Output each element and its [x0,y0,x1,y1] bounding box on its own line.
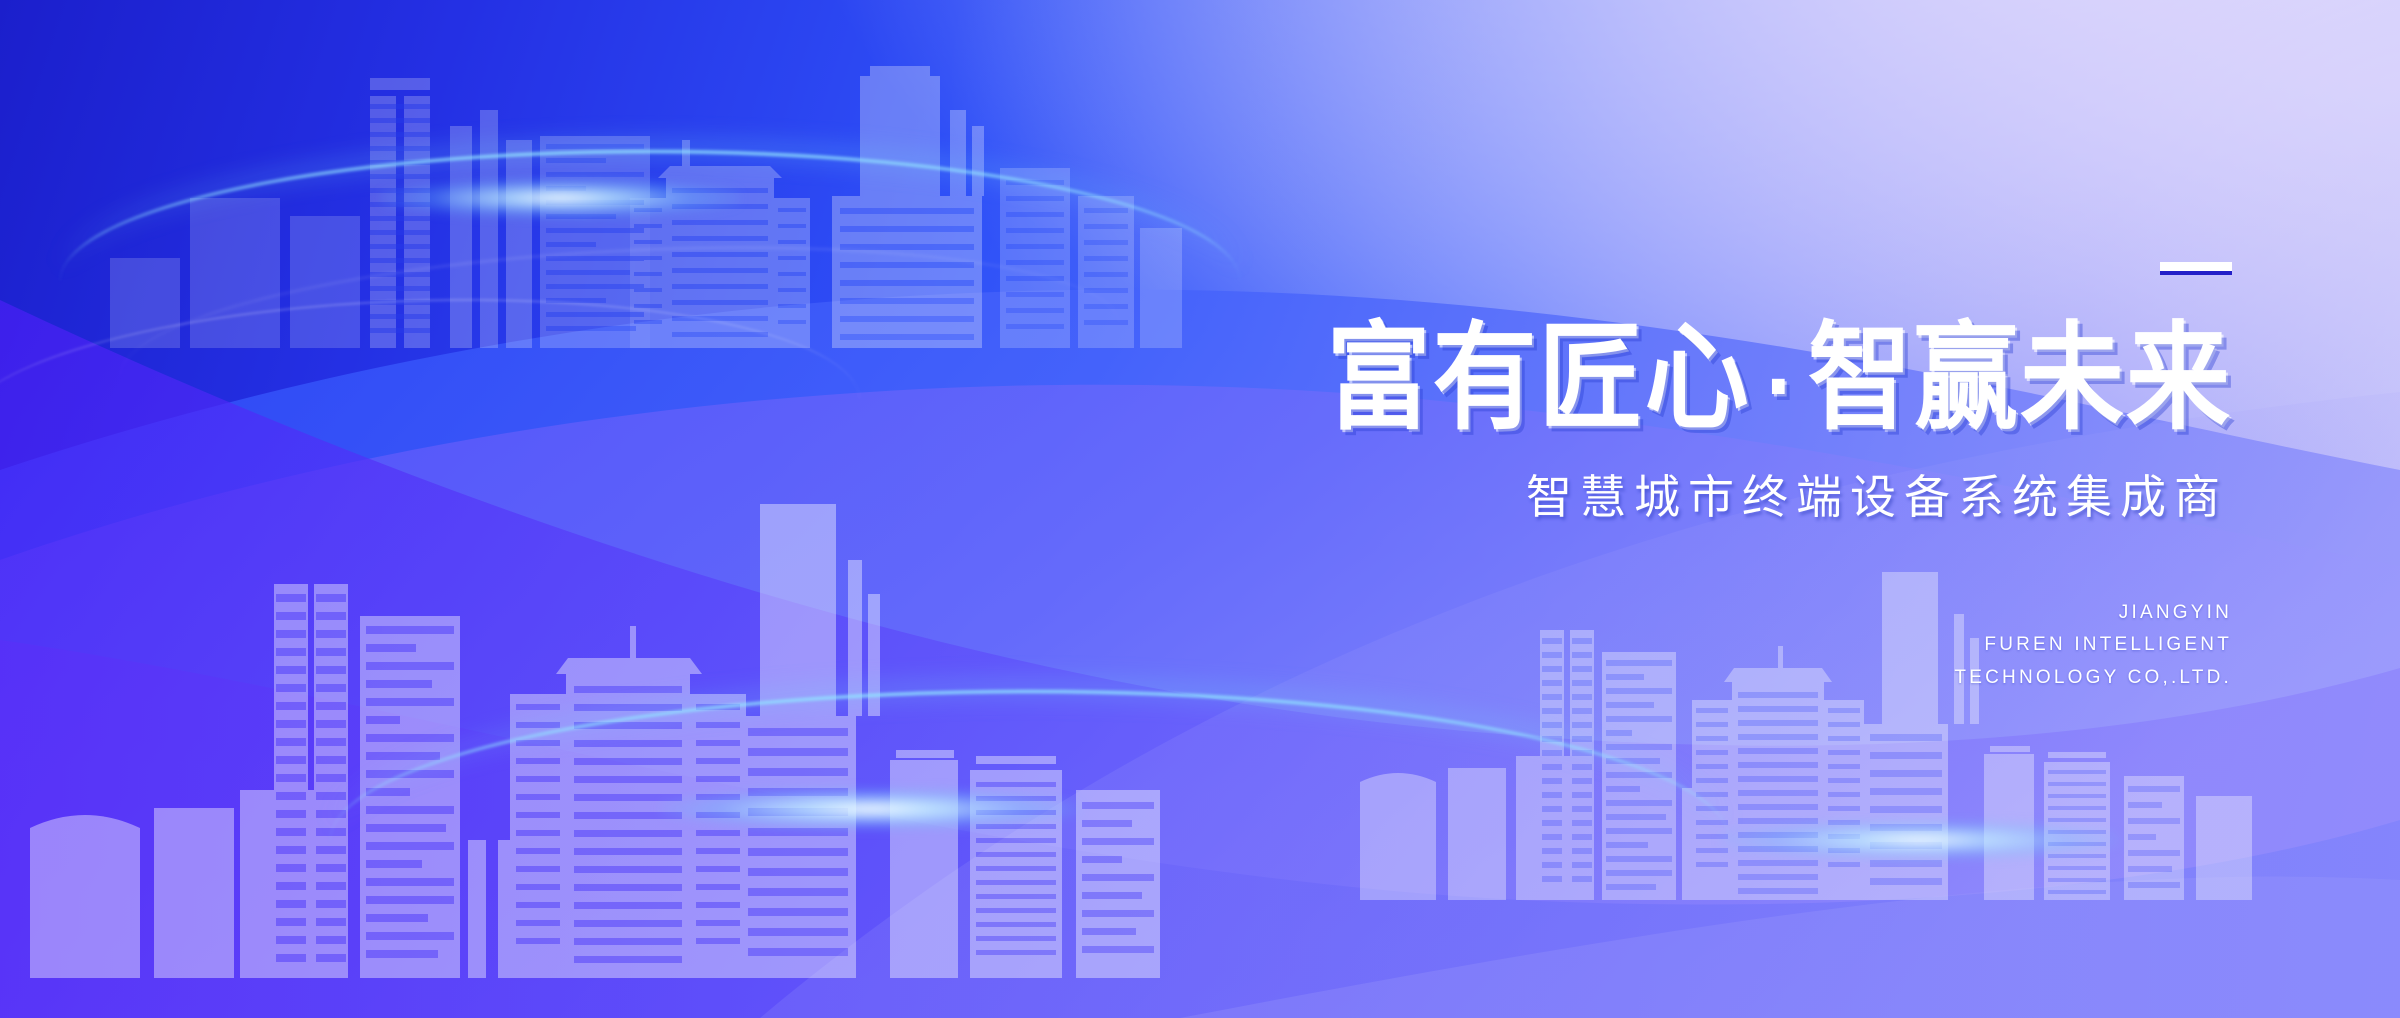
company-line-3: TECHNOLOGY CO,.LTD. [1327,662,2232,695]
headline-separator: · [1751,339,1808,433]
headline-left: 富有匠心 [1327,309,1751,446]
page-title: 富有匠心·智赢未来 [1327,320,2232,436]
promo-banner: 富有匠心·智赢未来 智慧城市终端设备系统集成商 JIANGYIN FUREN I… [0,0,2400,1018]
company-name-en: JIANGYIN FUREN INTELLIGENT TECHNOLOGY CO… [1327,597,2232,695]
company-line-1: JIANGYIN [1327,597,2232,630]
headline-right: 智赢未来 [1808,309,2232,446]
headline-block: 富有匠心·智赢未来 智慧城市终端设备系统集成商 JIANGYIN FUREN I… [1327,262,2232,695]
company-line-2: FUREN INTELLIGENT [1327,629,2232,662]
decorative-rule [2160,262,2232,271]
subtitle: 智慧城市终端设备系统集成商 [1327,472,2232,523]
